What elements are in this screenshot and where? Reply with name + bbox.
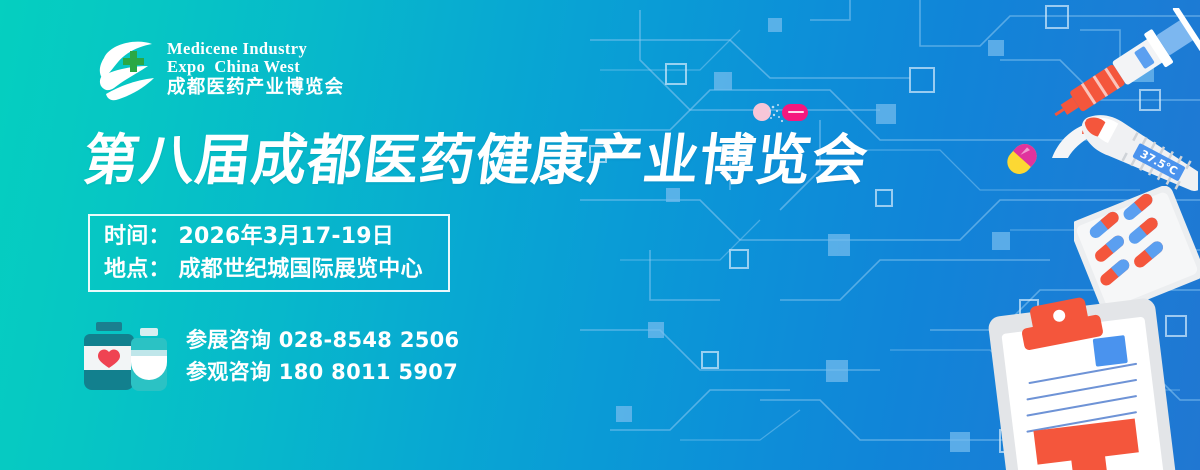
page-title: 第八届成都医药健康产业博览会 — [80, 129, 872, 191]
syringe-icon — [1030, 8, 1200, 158]
dissolving-pill-icon — [752, 100, 810, 126]
contact-block: 参展咨询 028-8548 2506 参观咨询 180 8011 5907 — [84, 320, 459, 392]
pill-blister-pack-icon — [1074, 186, 1200, 314]
digital-thermometer-icon: 37.5℃ — [1070, 98, 1198, 218]
circuit-board-pattern — [580, 0, 1200, 470]
ribbon-green-cross-icon — [96, 36, 158, 102]
medical-clipboard-icon — [982, 292, 1192, 470]
visitor-contact: 参观咨询 180 8011 5907 — [186, 359, 459, 385]
expo-banner: Medicene Industry Expo China West 成都医药产业… — [0, 0, 1200, 470]
exhibitor-contact: 参展咨询 028-8548 2506 — [186, 327, 459, 353]
capsule-icon — [1000, 137, 1044, 181]
event-time: 时间： 2026年3月17-19日 — [104, 220, 448, 253]
logo-english-line-2: Expo China West — [167, 58, 344, 75]
event-info-box: 时间： 2026年3月17-19日 地点： 成都世纪城国际展览中心 — [88, 214, 450, 292]
event-place: 地点： 成都世纪城国际展览中心 — [104, 253, 448, 286]
logo-english-line-1: Medicene Industry — [167, 40, 344, 57]
medicine-bottles-icon — [84, 320, 172, 392]
event-logo: Medicene Industry Expo China West 成都医药产业… — [96, 36, 344, 102]
logo-chinese-name: 成都医药产业博览会 — [167, 78, 344, 98]
thermometer-reading: 37.5℃ — [1138, 147, 1180, 177]
